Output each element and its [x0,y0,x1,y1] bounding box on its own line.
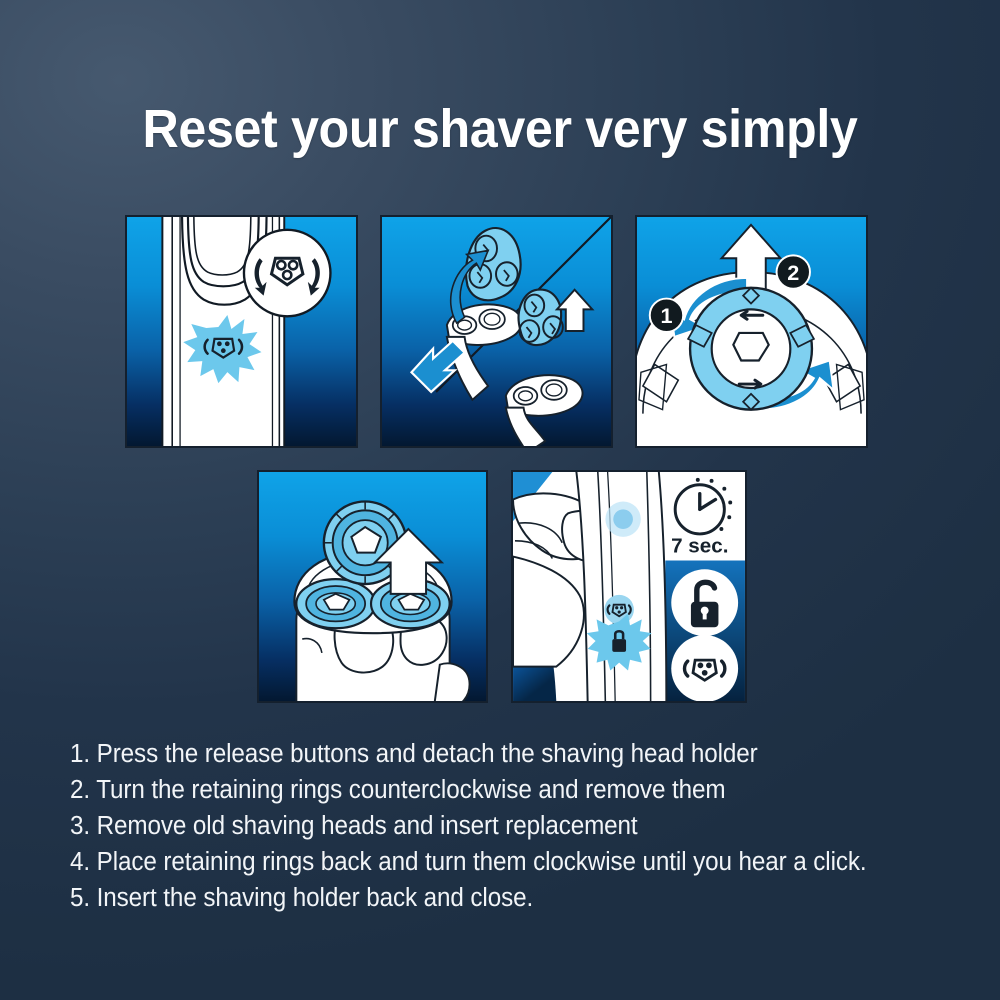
step-badge-1: 1 [650,299,683,332]
panel-reset-hold-button: 7 sec. [511,470,747,703]
retaining-ring [688,288,814,410]
step-badge-2-label: 2 [787,260,799,285]
step-badge-2: 2 [777,255,810,288]
page-title: Reset your shaver very simply [35,98,965,160]
instruction-step-5: 5. Insert the shaving holder back and cl… [70,880,867,916]
head-reset-indicator [671,635,738,701]
unlock-indicator [671,569,738,636]
rotate-head-inset [244,230,330,316]
instruction-step-1: 1. Press the release buttons and detach … [70,736,867,772]
step-badge-1-label: 1 [660,303,672,328]
timer-indicator: 7 sec. [665,472,745,560]
panel-remove-shaving-heads [257,470,488,703]
cutter-left [296,579,375,628]
power-button [613,509,633,529]
panel-retaining-ring-turn: 1 2 [635,215,868,448]
panel-shaver-body-release [125,215,358,448]
instruction-step-2: 2. Turn the retaining rings counterclock… [70,772,867,808]
illustration-row-1: 1 2 [125,215,868,448]
timer-label: 7 sec. [671,535,728,558]
panel-detach-head-holder [380,215,613,448]
instruction-step-4: 4. Place retaining rings back and turn t… [70,844,867,880]
instruction-step-3: 3. Remove old shaving heads and insert r… [70,808,867,844]
illustration-row-2: 7 sec. [257,470,747,703]
instruction-list: 1. Press the release buttons and detach … [70,736,867,916]
